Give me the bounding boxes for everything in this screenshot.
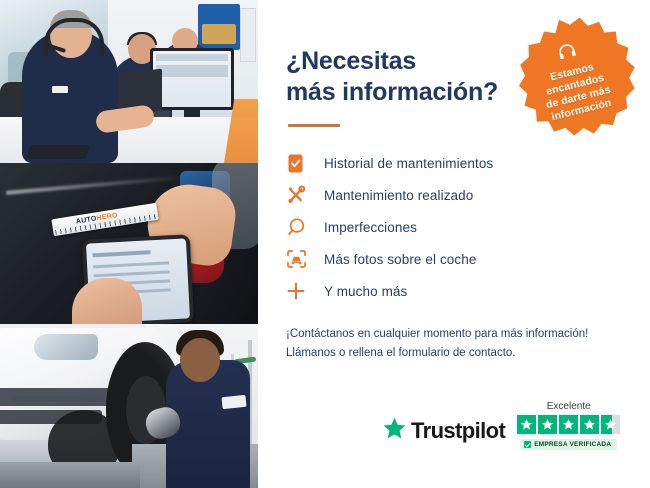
clipboard-check-icon bbox=[286, 153, 316, 174]
contact-text: ¡Contáctanos en cualquier momento para m… bbox=[286, 325, 622, 362]
trustpilot-logo: Trustpilot bbox=[382, 416, 505, 446]
trustpilot-rating-label: Excelente bbox=[547, 401, 591, 412]
feature-item-imperfections: Imperfecciones bbox=[286, 211, 622, 243]
trustpilot-rating: Excelente EMPRESA VERIFICADA bbox=[517, 401, 620, 450]
rating-star bbox=[580, 415, 599, 434]
car-headlight bbox=[34, 334, 98, 360]
verified-company-badge: EMPRESA VERIFICADA bbox=[520, 439, 617, 450]
desk-tablet bbox=[26, 145, 89, 159]
contact-info-card: AUTOHERO bbox=[0, 0, 650, 488]
title-underline-accent bbox=[288, 124, 340, 127]
wall-poster-secondary bbox=[240, 8, 256, 62]
desktop-monitor bbox=[150, 48, 234, 110]
car-inspection-ruler-photo: AUTOHERO bbox=[0, 163, 258, 324]
monitor-screen bbox=[153, 51, 231, 107]
support-badge: Estamos encantados de darte más informac… bbox=[499, 5, 649, 155]
rating-star-partial bbox=[601, 415, 620, 434]
feature-item-more-photos: Más fotos sobre el coche bbox=[286, 243, 622, 275]
trustpilot-widget[interactable]: Trustpilot Excelente EMPRESA VERIFICADA bbox=[382, 401, 620, 450]
headset-icon bbox=[555, 41, 580, 67]
headset-band bbox=[44, 18, 104, 56]
contact-text-line2: Llámanos o rellena el formulario de cont… bbox=[286, 344, 622, 363]
features-list: Historial de mantenimientos Mantenimient… bbox=[286, 147, 622, 307]
content-panel: ¿Necesitas más información? Historial de… bbox=[258, 0, 650, 488]
mechanic-head bbox=[180, 338, 220, 382]
contact-text-line1: ¡Contáctanos en cualquier momento para m… bbox=[286, 325, 622, 344]
feature-item-maintenance-done: Mantenimiento realizado bbox=[286, 179, 622, 211]
feature-label: Imperfecciones bbox=[324, 220, 417, 235]
badge-content: Estamos encantados de darte más informac… bbox=[499, 5, 649, 155]
feature-label: Y mucho más bbox=[324, 284, 407, 299]
call-center-agents-photo bbox=[0, 0, 258, 163]
mechanic-wheel-photo bbox=[0, 324, 258, 488]
page-title-line1: ¿Necesitas bbox=[286, 47, 416, 75]
trustpilot-wordmark: Trustpilot bbox=[411, 418, 505, 444]
trustpilot-star-icon bbox=[382, 416, 407, 446]
feature-label: Historial de mantenimientos bbox=[324, 156, 493, 171]
car-lift-platform bbox=[0, 462, 140, 488]
trustpilot-stars bbox=[517, 415, 620, 434]
feature-label: Mantenimiento realizado bbox=[324, 188, 473, 203]
verified-company-label: EMPRESA VERIFICADA bbox=[534, 441, 611, 448]
tools-cross-icon bbox=[286, 185, 316, 205]
wall-poster bbox=[198, 4, 240, 50]
photo-strip: AUTOHERO bbox=[0, 0, 258, 488]
rating-star bbox=[517, 415, 536, 434]
rating-star bbox=[559, 415, 578, 434]
mechanic-name-badge bbox=[221, 395, 246, 409]
feature-item-maintenance-history: Historial de mantenimientos bbox=[286, 147, 622, 179]
verified-check-icon bbox=[524, 441, 531, 448]
magnifier-icon bbox=[286, 217, 316, 237]
car-scan-icon bbox=[286, 249, 316, 269]
feature-label: Más fotos sobre el coche bbox=[324, 252, 476, 267]
badge-text: Estamos encantados de darte más informac… bbox=[520, 54, 633, 129]
feature-item-more: Y mucho más bbox=[286, 275, 622, 307]
plus-icon bbox=[286, 281, 316, 301]
employee-name-badge bbox=[52, 86, 68, 93]
rating-star bbox=[538, 415, 557, 434]
